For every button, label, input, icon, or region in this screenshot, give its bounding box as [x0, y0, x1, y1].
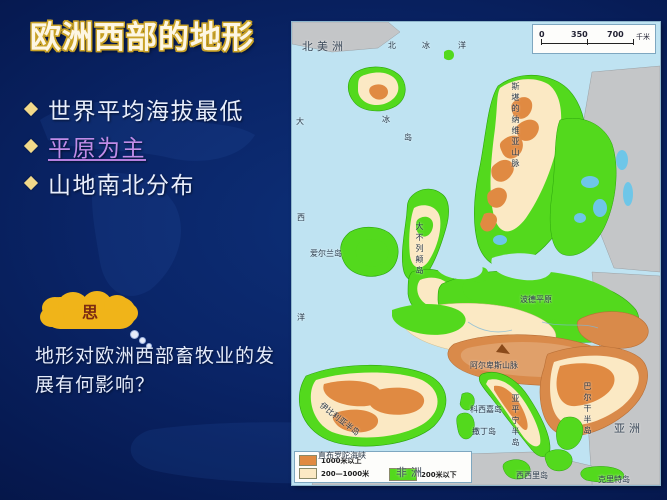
- bullet-list: 世界平均海拔最低 平原为主 山地南北分布: [26, 92, 288, 203]
- diamond-bullet-icon: [24, 101, 38, 115]
- legend-item-midland: 200—1000米: [299, 468, 369, 479]
- thought-bubble-char: 思: [78, 303, 102, 323]
- europe-terrain-map[interactable]: 0 350 700 千米 1000米以上 200—1000米: [292, 22, 660, 485]
- question-text: 地形对欧洲西部畜牧业的发展有何影响？: [35, 342, 280, 401]
- scale-label-max: 700: [607, 30, 624, 39]
- iceland: [348, 67, 405, 111]
- legend-item-highland: 1000米以上: [299, 455, 361, 466]
- bullet-label-hyperlink[interactable]: 平原为主: [48, 129, 146, 163]
- bullet-item-2[interactable]: 山地南北分布: [26, 166, 288, 199]
- scale-unit-label: 千米: [636, 32, 650, 42]
- legend-item-lowland: 200米以下: [389, 468, 457, 481]
- legend-swatch-lowland: [389, 468, 417, 481]
- small-island: [444, 50, 454, 60]
- bullet-item-0[interactable]: 世界平均海拔最低: [26, 92, 288, 125]
- legend-label-lowland: 200米以下: [421, 470, 457, 480]
- slide-canvas: 欧洲西部的地形 世界平均海拔最低 平原为主 山地南北分布 思 地形对欧洲西部畜牧…: [0, 0, 667, 500]
- legend-swatch-highland: [299, 455, 317, 466]
- thought-bubble: 思: [38, 293, 158, 348]
- map-graphic: [292, 22, 660, 485]
- map-legend: 1000米以上 200—1000米 200米以下: [294, 451, 472, 483]
- thought-trail-dot: [130, 330, 139, 339]
- scale-label-0: 0: [539, 30, 545, 39]
- legend-swatch-midland: [299, 468, 317, 479]
- scale-tick: [587, 39, 588, 45]
- sardinia: [457, 413, 475, 439]
- diamond-bullet-icon: [24, 175, 38, 189]
- scale-tick: [541, 39, 542, 45]
- bullet-item-1[interactable]: 平原为主: [26, 129, 288, 162]
- page-title: 欧洲西部的地形: [30, 22, 254, 55]
- scale-label-mid: 350: [571, 30, 588, 39]
- bullet-label: 世界平均海拔最低: [48, 92, 244, 126]
- legend-label-midland: 200—1000米: [321, 469, 369, 479]
- legend-label-highland: 1000米以上: [321, 456, 361, 466]
- cloud-puff: [40, 307, 64, 327]
- map-scale-bar: 0 350 700 千米: [532, 24, 656, 54]
- corsica: [460, 393, 474, 410]
- scale-tick: [633, 39, 634, 45]
- bullet-label: 山地南北分布: [48, 166, 195, 200]
- diamond-bullet-icon: [24, 138, 38, 152]
